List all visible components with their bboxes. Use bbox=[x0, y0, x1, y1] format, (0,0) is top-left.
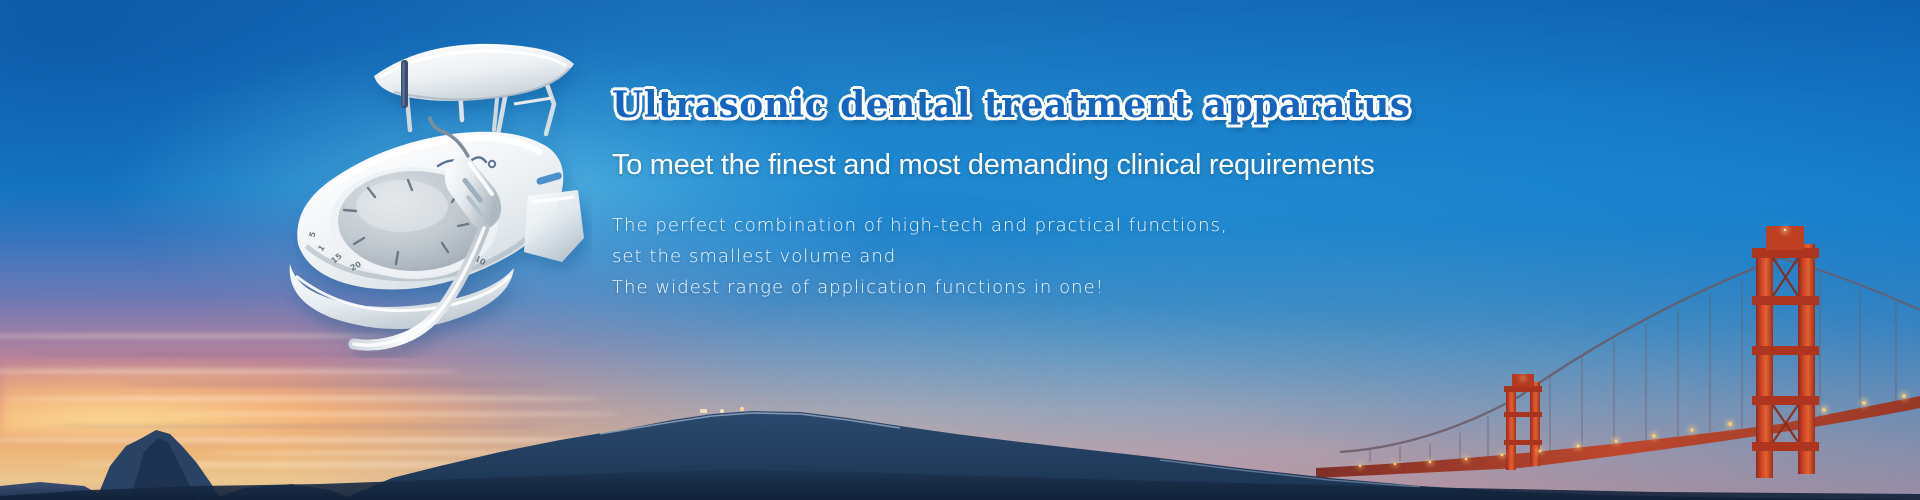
promo-banner: 20 15 1 5 10 bbox=[0, 0, 1920, 500]
body-line-1: The perfect combination of high-tech and… bbox=[612, 210, 1332, 241]
ultrasonic-dental-scaler: 20 15 1 5 10 bbox=[262, 38, 592, 358]
body-line-3: The widest range of application function… bbox=[612, 272, 1332, 303]
ridge-lights bbox=[700, 407, 744, 413]
banner-title: Ultrasonic dental treatment apparatus bbox=[612, 84, 1332, 126]
scaler-tip bbox=[401, 60, 408, 108]
body-line-2: set the smallest volume and bbox=[612, 241, 1332, 272]
scaler-side-plate bbox=[524, 190, 584, 262]
banner-copy: Ultrasonic dental treatment apparatus To… bbox=[612, 84, 1332, 303]
banner-subtitle: To meet the finest and most demanding cl… bbox=[612, 148, 1332, 182]
banner-body-copy: The perfect combination of high-tech and… bbox=[612, 210, 1332, 303]
